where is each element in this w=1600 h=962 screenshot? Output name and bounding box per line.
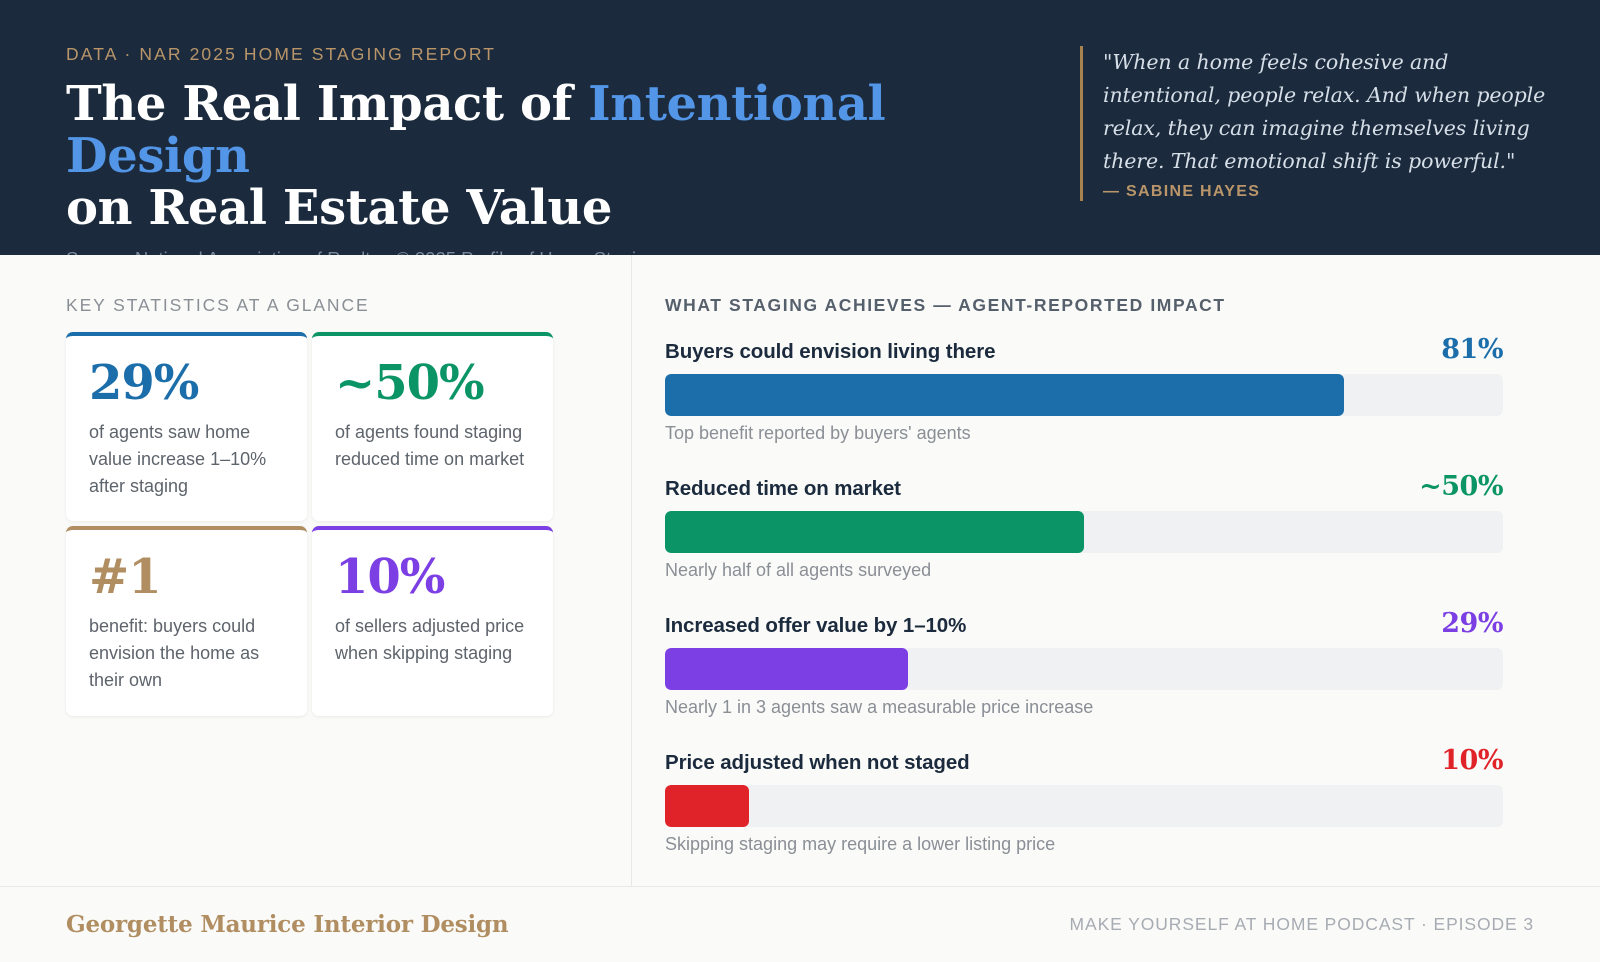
body-area: KEY STATISTICS AT A GLANCE 29% of agents… — [0, 255, 1600, 886]
bar-label: Price adjusted when not staged — [665, 751, 970, 775]
bar-chart: Buyers could envision living there 81% T… — [665, 334, 1503, 855]
page-title: The Real Impact of Intentional Designon … — [66, 79, 1050, 234]
bar-annotation: Top benefit reported by buyers' agents — [665, 423, 1503, 444]
stat-card: ~50% of agents found staging reduced tim… — [312, 332, 553, 521]
quote-text: "When a home feels cohesive and intentio… — [1103, 46, 1560, 178]
stat-value: ~50% — [335, 358, 531, 409]
bar-header: Price adjusted when not staged 10% — [665, 745, 1503, 776]
stat-description: benefit: buyers could envision the home … — [89, 613, 285, 693]
bar-track — [665, 648, 1503, 690]
bar-track — [665, 374, 1503, 416]
bar-label: Buyers could envision living there — [665, 340, 995, 364]
bar-fill — [665, 785, 749, 827]
footer-meta: MAKE YOURSELF AT HOME PODCAST · EPISODE … — [1070, 914, 1534, 935]
stat-description: of agents saw home value increase 1–10% … — [89, 419, 285, 499]
bar-value: 81% — [1441, 334, 1503, 365]
stat-value: 29% — [89, 358, 285, 409]
brand-name: Georgette Maurice Interior Design — [66, 911, 508, 938]
headline-text-1: The Real Impact of — [66, 76, 588, 132]
quote-attribution: — SABINE HAYES — [1103, 183, 1560, 201]
bar-annotation: Nearly 1 in 3 agents saw a measurable pr… — [665, 697, 1503, 718]
header-left-block: DATA · NAR 2025 HOME STAGING REPORT The … — [0, 44, 1080, 270]
bar-value: 10% — [1441, 745, 1503, 776]
stat-card: 29% of agents saw home value increase 1–… — [66, 332, 307, 521]
stat-card: 10% of sellers adjusted price when skipp… — [312, 526, 553, 715]
bar-value: 29% — [1441, 608, 1503, 639]
header-banner: DATA · NAR 2025 HOME STAGING REPORT The … — [0, 0, 1600, 255]
bar-header: Reduced time on market ~50% — [665, 471, 1503, 502]
bar-header: Buyers could envision living there 81% — [665, 334, 1503, 365]
stat-description: of sellers adjusted price when skipping … — [335, 613, 531, 667]
stat-card-grid: 29% of agents saw home value increase 1–… — [66, 332, 571, 716]
bar-track — [665, 785, 1503, 827]
bar-row: Reduced time on market ~50% Nearly half … — [665, 471, 1503, 581]
header-right-block: "When a home feels cohesive and intentio… — [1080, 44, 1600, 201]
infographic-page: DATA · NAR 2025 HOME STAGING REPORT The … — [0, 0, 1600, 962]
stat-card: #1 benefit: buyers could envision the ho… — [66, 526, 307, 715]
stat-description: of agents found staging reduced time on … — [335, 419, 531, 473]
stat-value: 10% — [335, 552, 531, 603]
bar-value: ~50% — [1419, 471, 1503, 502]
panel-divider — [631, 255, 632, 886]
footer: Georgette Maurice Interior Design MAKE Y… — [0, 886, 1600, 962]
headline-text-2: on Real Estate Value — [66, 180, 612, 236]
key-statistics-label: KEY STATISTICS AT A GLANCE — [66, 295, 571, 316]
bar-annotation: Nearly half of all agents surveyed — [665, 560, 1503, 581]
bar-label: Reduced time on market — [665, 477, 901, 501]
impact-chart-panel: WHAT STAGING ACHIEVES — AGENT-REPORTED I… — [631, 255, 1600, 886]
bar-fill — [665, 648, 908, 690]
bar-row: Buyers could envision living there 81% T… — [665, 334, 1503, 444]
key-statistics-panel: KEY STATISTICS AT A GLANCE 29% of agents… — [0, 255, 631, 886]
bar-fill — [665, 511, 1084, 553]
bar-annotation: Skipping staging may require a lower lis… — [665, 834, 1503, 855]
bar-track — [665, 511, 1503, 553]
bar-row: Price adjusted when not staged 10% Skipp… — [665, 745, 1503, 855]
impact-chart-label: WHAT STAGING ACHIEVES — AGENT-REPORTED I… — [665, 295, 1503, 316]
stat-value: #1 — [89, 552, 285, 603]
bar-row: Increased offer value by 1–10% 29% Nearl… — [665, 608, 1503, 718]
bar-header: Increased offer value by 1–10% 29% — [665, 608, 1503, 639]
pull-quote: "When a home feels cohesive and intentio… — [1080, 46, 1560, 201]
bar-fill — [665, 374, 1344, 416]
bar-label: Increased offer value by 1–10% — [665, 614, 966, 638]
header-kicker: DATA · NAR 2025 HOME STAGING REPORT — [66, 44, 1050, 65]
